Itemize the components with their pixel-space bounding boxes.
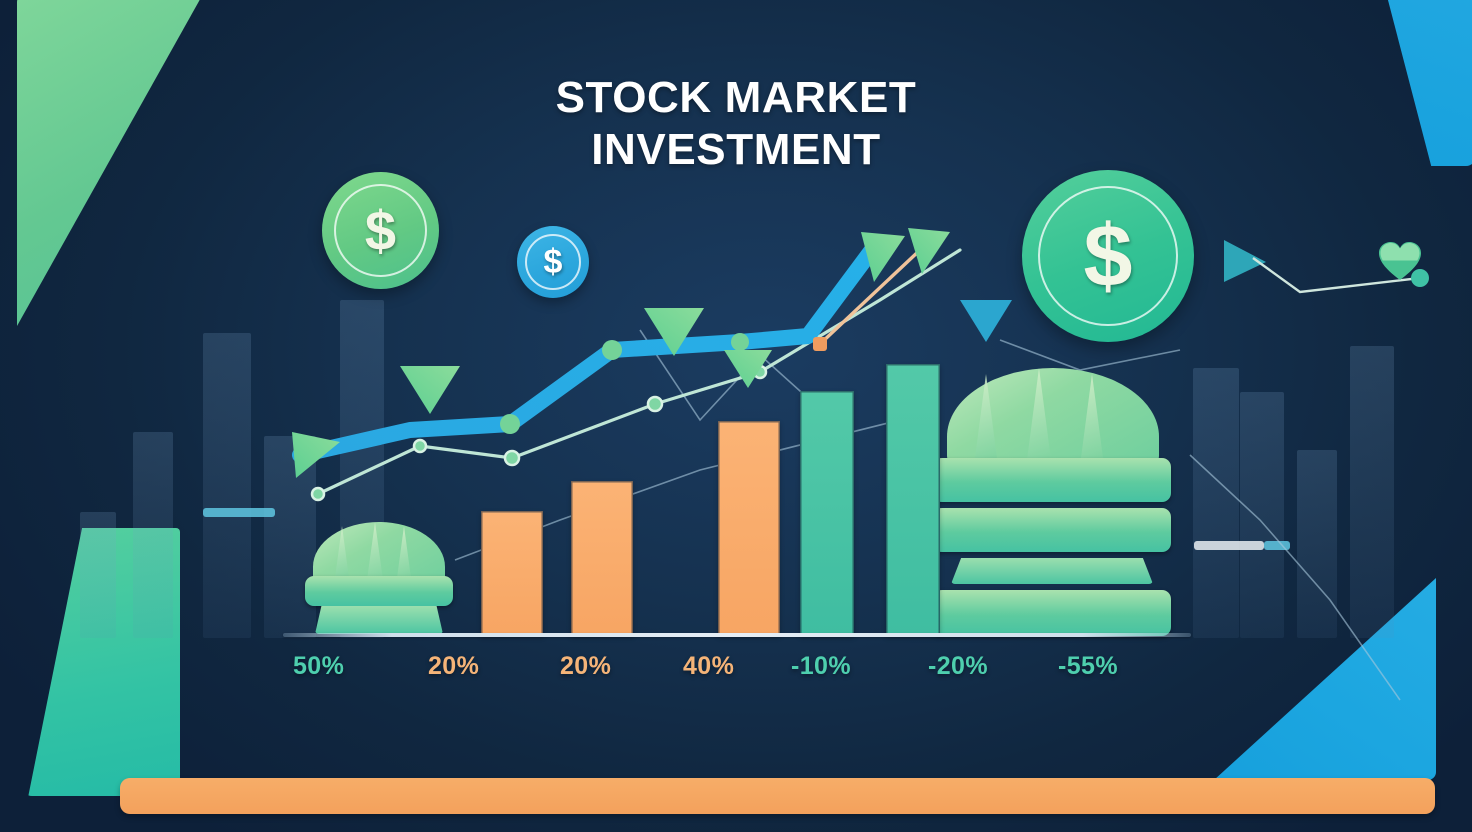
chart-axis-line <box>283 633 1191 637</box>
chart-bar <box>571 481 633 636</box>
axis-tick-label: -10% <box>791 652 851 681</box>
dollar-pin-icon: $ <box>322 172 439 289</box>
money-stack-large <box>933 368 1171 636</box>
axis-tick-label: -55% <box>1058 652 1118 681</box>
dollar-bubble-icon: $ <box>1022 170 1194 342</box>
axis-tick-label: 20% <box>560 652 611 681</box>
teal-left-triangle <box>1224 240 1266 282</box>
axis-tick-label: 50% <box>293 652 344 681</box>
chart-bar <box>886 364 940 636</box>
axis-tick-label: -20% <box>928 652 988 681</box>
chart-bar <box>800 391 854 636</box>
axis-tick-label: 20% <box>428 652 479 681</box>
blue-arrow-head <box>861 232 905 282</box>
dollar-coin-icon: $ <box>517 226 589 298</box>
axis-tick-label: 40% <box>683 652 734 681</box>
chart-bar <box>718 421 780 636</box>
heart-icon <box>1378 242 1422 282</box>
infographic-canvas: STOCK MARKET INVESTMENT <box>0 0 1472 832</box>
axis-tick-labels: 50%20%20%40%-10%-20%-55% <box>283 652 1191 698</box>
money-stack-small <box>305 522 453 636</box>
bar-chart-plot <box>283 330 1191 636</box>
chart-bar <box>481 511 543 636</box>
